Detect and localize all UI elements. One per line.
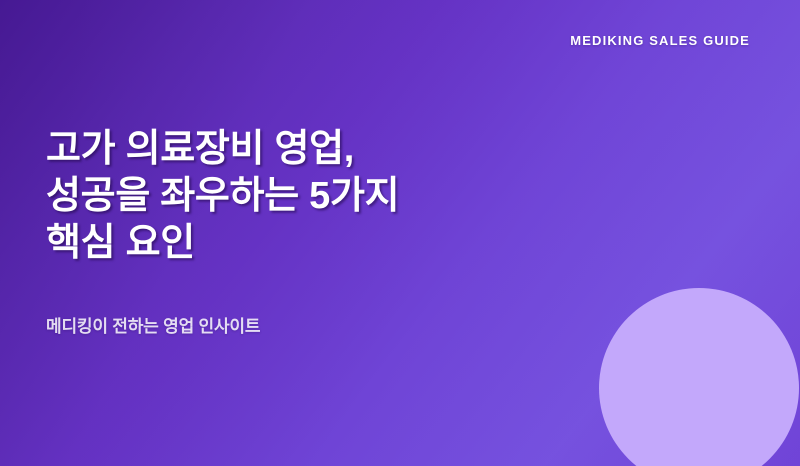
subtitle: 메디킹이 전하는 영업 인사이트 bbox=[46, 312, 260, 337]
title-line-1: 고가 의료장비 영업, bbox=[46, 126, 399, 173]
title-slide: MEDIKING SALES GUIDE 고가 의료장비 영업, 성공을 좌우하… bbox=[0, 0, 800, 466]
decorative-circle bbox=[599, 288, 799, 466]
title-line-3: 핵심 요인 bbox=[46, 220, 399, 267]
brand-eyebrow-label: MEDIKING SALES GUIDE bbox=[570, 33, 750, 48]
title-line-2: 성공을 좌우하는 5가지 bbox=[46, 173, 399, 220]
page-title: 고가 의료장비 영업, 성공을 좌우하는 5가지 핵심 요인 bbox=[46, 126, 399, 267]
